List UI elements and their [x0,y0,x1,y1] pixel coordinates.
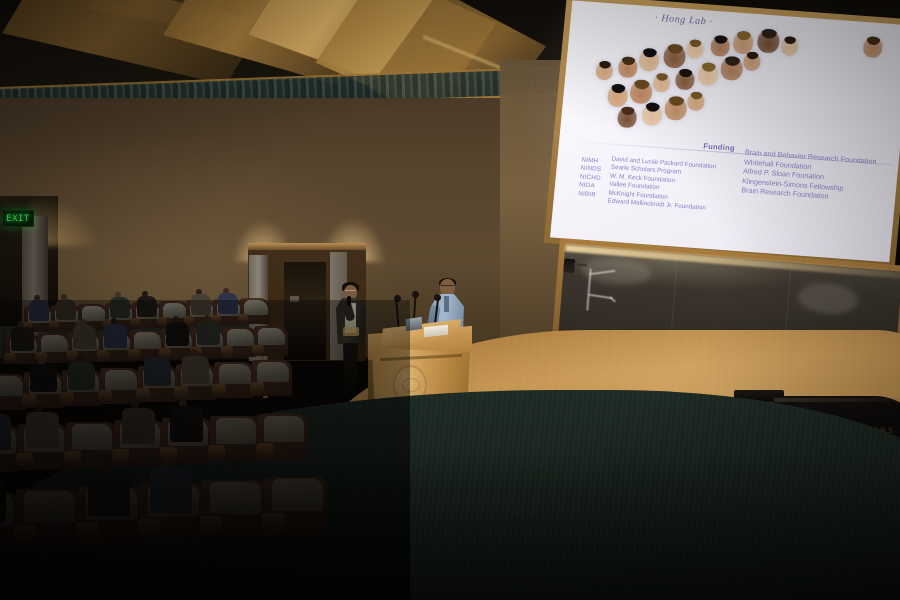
lab-member-headshot [675,68,696,90]
seat-armrest [16,453,33,467]
lab-member-headshot [687,91,706,111]
chalk-smudge [797,281,859,316]
seat-cushion [24,491,75,523]
audience-member-torso [150,467,192,512]
seat-armrest [76,522,98,539]
seat-armrest [128,349,140,358]
audience-member-torso [68,362,94,390]
seat-cushion [82,306,106,321]
lab-member-headshot [617,106,638,128]
funding-list-right: Brain and Behavior Research FoundationWh… [741,147,877,204]
audience-member-torso [182,356,208,384]
seat-armrest [174,386,188,397]
audience-member-torso [197,321,219,344]
audience-member-torso [170,406,203,442]
seat-armrest [160,447,177,461]
seat-cushion [72,424,112,450]
seat-armrest [138,519,160,536]
seat-cushion [219,364,251,384]
seat-armrest [64,451,81,465]
audience-member-torso [144,358,170,386]
seat-cushion [264,416,304,442]
audience-member-torso [191,294,211,314]
lab-member-headshot [780,36,799,56]
seat-armrest [49,321,59,329]
seat-armrest [157,317,167,325]
seat-cushion [134,332,161,349]
seat-armrest [200,516,222,533]
lab-member-headshot [641,102,663,126]
seat-cushion [227,329,254,346]
lab-member-headshot [629,79,653,105]
shirt-placket [444,296,449,312]
audience-member-torso [11,327,33,350]
seat-armrest [14,525,36,542]
chalk-smudge [581,256,653,288]
lab-member-headshot [662,43,686,69]
seat-cushion [0,376,23,396]
exit-sign-label: EXIT [6,214,30,224]
seat-armrest [112,449,129,463]
lab-member-headshot [638,48,660,72]
lab-member-headshot [617,56,638,78]
seat-armrest [238,314,248,322]
audience-member-torso [104,324,126,347]
audience-member-torso [56,299,76,319]
lab-member-headshot [720,55,744,81]
exit-sign: EXIT [2,210,34,227]
seat-cushion [244,300,268,315]
lab-member-headshot [686,39,705,59]
piano-lid-edge [774,398,900,402]
seat-armrest [22,394,36,405]
seat-armrest [98,390,112,401]
seat-cushion [210,482,261,514]
seat-armrest [60,392,74,403]
projected-slide: · Hong Lab · Funding NIMHNINDSNICHDNIDAN… [550,0,900,262]
seat-armrest [262,513,284,530]
chalk-mark [609,296,616,302]
seat-cushion [105,370,137,390]
seat-cushion [258,328,285,345]
audience-member-torso [26,412,59,448]
funding-list-left: David and Lucile Packard FoundationSearl… [607,156,716,214]
lab-member-headshot [697,62,719,86]
seat-armrest [252,345,264,354]
seat-armrest [4,353,16,362]
seat-armrest [159,348,171,357]
audience-member-torso [0,414,11,450]
funding-agency-acronym-list: NIMHNINDSNICHDNIDANIBIB [578,156,603,199]
audience-member-torso [110,297,130,317]
seat-armrest [136,388,150,399]
seat-cushion [272,479,323,511]
lecture-hall-photo: EXIT · Hong Lab · Funding NIMHNINDSNICHD… [0,0,900,600]
audience-member-torso [0,476,6,521]
seat-armrest [212,384,226,395]
audience-member-torso [122,408,155,444]
seat-cushion [163,303,187,318]
lab-member-headshot [652,73,671,93]
lab-member-headshot [862,36,883,58]
lab-member-headshot [664,95,688,121]
audience-member-torso [29,300,49,320]
seat-cushion [41,335,68,352]
projection-screen-assembly: · Hong Lab · Funding NIMHNINDSNICHDNIDAN… [543,0,900,271]
audience-member-torso [73,325,95,348]
camera-clip-icon [563,258,575,273]
audience-member-torso [218,293,238,313]
audience-member-torso [166,322,188,345]
seat-armrest [208,445,225,459]
audience-member-torso [88,470,130,515]
seat-armrest [256,443,273,457]
doorway-lintel [248,243,366,250]
lab-member-headshot-cluster [586,16,900,154]
seat-armrest [221,346,233,355]
audience-member-torso [137,296,157,316]
lab-member-headshot [710,35,731,57]
seat-armrest [250,382,264,393]
lab-member-headshot [756,28,780,54]
seat-cushion [257,362,289,382]
audience-member-torso [30,364,56,392]
seat-armrest [97,350,109,359]
lab-member-headshot [607,83,629,107]
lab-member-headshot [595,60,614,80]
eyeglasses-icon [441,285,454,289]
seat-armrest [130,318,140,326]
seat-cushion [216,418,256,444]
funding-entry: NIBIB [578,190,600,200]
audience-seating [0,300,410,600]
lab-member-headshot [743,51,762,71]
eyeglasses-icon [345,290,356,294]
